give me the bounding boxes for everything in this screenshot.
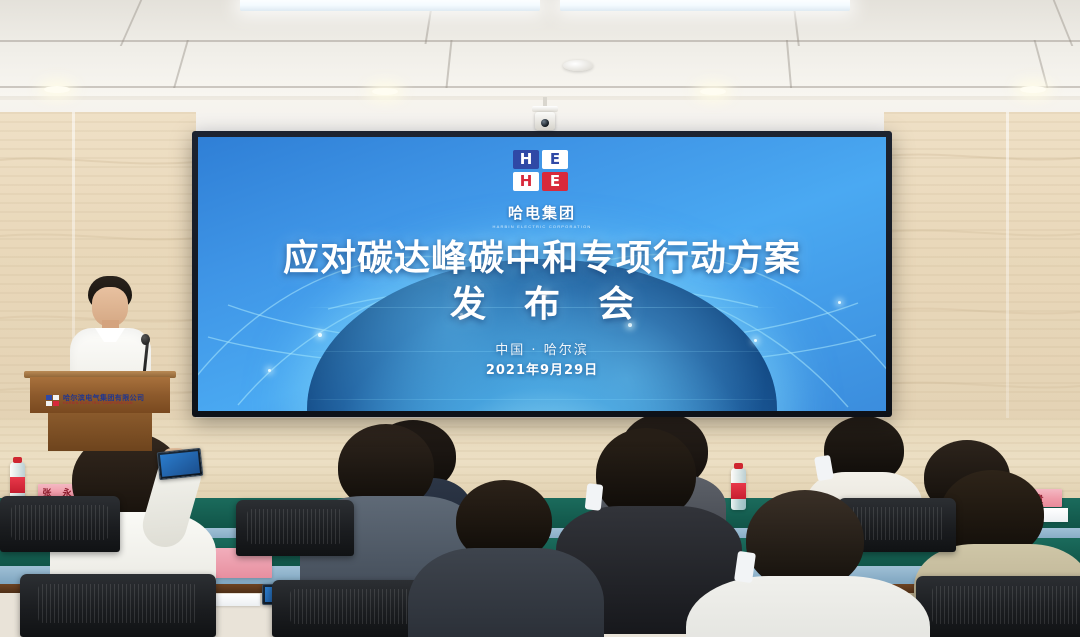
right-marble-wall <box>884 112 1080 442</box>
ceiling-strip-light <box>560 0 850 11</box>
logo-quadrant-1: H <box>513 150 539 169</box>
logo-quadrant-2: E <box>542 150 568 169</box>
face-mask <box>585 483 604 511</box>
recessed-downlight <box>372 88 398 95</box>
camera-icon <box>532 103 558 133</box>
smartphone-recording[interactable] <box>157 448 204 480</box>
marble-panel-seam <box>1006 112 1009 442</box>
chair-front-left <box>20 574 216 637</box>
he-logo-mark: H E H E <box>513 150 571 194</box>
chair-back-left <box>0 496 120 552</box>
water-bottle <box>731 468 746 510</box>
person-torso <box>408 548 604 637</box>
podium-front-panel: 哈尔滨电气集团有限公司 HARBIN ELECTRIC CORPORATION <box>30 377 170 413</box>
smoke-detector-icon <box>563 60 593 71</box>
podium-sign: 哈尔滨电气集团有限公司 HARBIN ELECTRIC CORPORATION <box>46 391 166 410</box>
ceiling-strip-light <box>240 0 540 11</box>
podium: 哈尔滨电气集团有限公司 HARBIN ELECTRIC CORPORATION <box>24 371 176 451</box>
podium-base <box>48 413 152 451</box>
logo-quadrant-4: E <box>542 172 568 191</box>
logo-quadrant-3: H <box>513 172 539 191</box>
logo-company-name-cn: 哈电集团 <box>198 202 886 223</box>
marble-vein-texture <box>884 112 1080 442</box>
microphone-head-icon <box>141 334 150 345</box>
podium-sign-en: HARBIN ELECTRIC CORPORATION <box>63 402 144 406</box>
podium-logo-icon <box>46 395 59 406</box>
led-display-screen: H E H E 哈电集团 HARBIN ELECTRIC CORPORATION… <box>192 131 892 417</box>
recessed-downlight <box>1020 86 1046 93</box>
ceiling-grid <box>0 0 1080 108</box>
person-torso <box>686 576 930 637</box>
slide-title-line-1: 应对碳达峰碳中和专项行动方案 <box>198 229 886 281</box>
presentation-slide: H E H E 哈电集团 HARBIN ELECTRIC CORPORATION… <box>198 137 886 411</box>
conference-room-photo: H E H E 哈电集团 HARBIN ELECTRIC CORPORATION… <box>0 0 1080 637</box>
recessed-downlight <box>44 86 70 93</box>
slide-place: 中国 · 哈尔滨 <box>198 339 886 358</box>
slide-title-line-2: 发布会 <box>198 275 886 327</box>
chair-back-mid <box>236 500 354 556</box>
person-head <box>746 490 864 590</box>
recessed-downlight <box>700 88 726 95</box>
slide-date: 2021年9月29日 <box>198 359 886 378</box>
company-logo: H E H E 哈电集团 HARBIN ELECTRIC CORPORATION <box>198 150 886 229</box>
ceiling <box>0 0 1080 108</box>
chair-front-right <box>916 576 1080 637</box>
